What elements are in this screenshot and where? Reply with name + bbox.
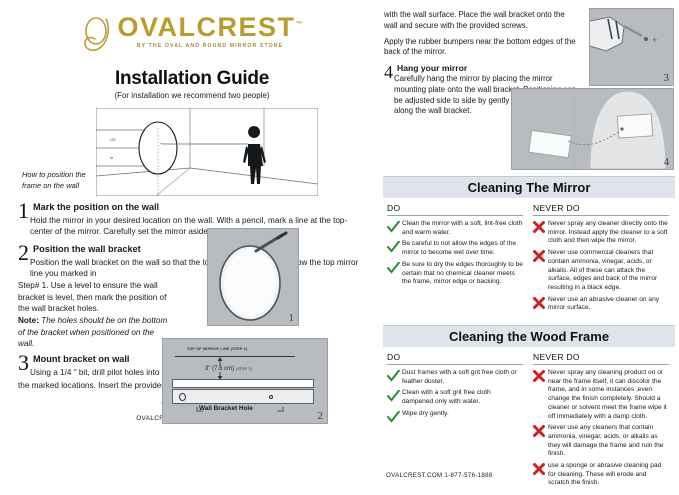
step-2-note-label: Note:: [18, 316, 39, 325]
step-3-number: 3: [18, 352, 29, 374]
cross-icon: [533, 296, 548, 313]
photo-panel-mirror-pencil: 1: [207, 228, 299, 326]
continuation-paragraph-2: Apply the rubber bumpers near the bottom…: [384, 37, 580, 59]
bracket-dimension-label: 3" (7.6 cm) (STEP 2): [205, 366, 252, 372]
brand-name: OVALCREST™: [117, 14, 302, 41]
room-diagram-caption: How to position the frame on the wall: [18, 108, 96, 196]
drill-illustration: +: [590, 9, 673, 85]
bracket-hole-right: [269, 395, 273, 399]
tip-item: Never use commercial cleaners that conta…: [533, 249, 669, 293]
trademark-symbol: ™: [296, 21, 303, 28]
tip-item: Be sure to dry the edges thoroughly to b…: [387, 261, 523, 287]
svg-text:US: US: [110, 137, 116, 142]
brand-tagline: BY THE OVAL AND ROUND MIRROR STORE: [117, 43, 302, 49]
cleaning-frame-section: Cleaning the Wood Frame DO Dust frames w…: [383, 325, 675, 495]
footer-right: OVALCREST.COM 1-877-576-1888: [386, 472, 493, 479]
bracket-hole-left: [179, 393, 186, 401]
tip-item: Dust frames with a soft grit free cloth …: [387, 369, 523, 386]
step-2-note-text: The holes should be on the bottom of the…: [18, 316, 167, 348]
step-1-number: 1: [18, 200, 29, 222]
tip-text: Never spray any cleaner directly onto th…: [548, 220, 669, 246]
tip-text: use a sponge or abrasive cleaning pad fo…: [548, 462, 669, 488]
tip-item: Clean with a soft grit free cloth dampen…: [387, 389, 523, 406]
check-icon: [387, 389, 402, 406]
cleaning-mirror-never-column: NEVER DO Never spray any cleaner directl…: [529, 199, 675, 320]
tip-text: Never use an abrasive cleaner on any mir…: [548, 296, 669, 313]
cross-icon: [533, 369, 548, 421]
cross-icon: [533, 249, 548, 293]
cleaning-mirror-do-column: DO Clean the mirror with a soft, lint-fr…: [383, 199, 529, 320]
tip-item: Wipe dry gently.: [387, 410, 523, 423]
panel-number-4: 4: [664, 156, 670, 168]
do-label-frame: DO: [387, 352, 523, 365]
installation-guide-page: OVALCREST™ BY THE OVAL AND ROUND MIRROR …: [0, 0, 679, 489]
cleaning-frame-never-column: NEVER DO Never spray any cleaning produc…: [529, 348, 675, 495]
tip-item: Never use an abrasive cleaner on any mir…: [533, 296, 669, 313]
tip-text: Never spray any cleaning product on or n…: [548, 369, 669, 421]
cleaning-mirror-section: Cleaning The Mirror DO Clean the mirror …: [383, 176, 675, 320]
cross-icon: [533, 220, 548, 246]
page-title: Installation Guide: [18, 68, 366, 90]
never-do-label-mirror: NEVER DO: [533, 203, 669, 216]
tip-text: Clean with a soft grit free cloth dampen…: [402, 389, 523, 406]
oval-swirl-icon: [81, 14, 115, 54]
tip-text: Be sure to dry the edges thoroughly to b…: [402, 261, 523, 287]
step-4-number: 4: [384, 63, 393, 81]
tip-text: Be careful to not allow the edges of the…: [402, 240, 523, 257]
svg-text:in: in: [110, 155, 113, 160]
cleaning-mirror-title: Cleaning The Mirror: [383, 176, 675, 198]
tip-item: use a sponge or abrasive cleaning pad fo…: [533, 462, 669, 488]
step-1-body: Hold the mirror in your desired location…: [18, 215, 366, 238]
check-icon: [387, 369, 402, 386]
step-4-heading: Hang your mirror: [384, 63, 584, 73]
tip-text: Wipe dry gently.: [402, 410, 449, 423]
step-2-number: 2: [18, 242, 29, 264]
photo-panel-hang-plate: 4: [511, 88, 674, 170]
tip-item: Never spray any cleaner directly onto th…: [533, 220, 669, 246]
mirror-pencil-illustration: [208, 229, 298, 325]
cross-icon: [533, 424, 548, 459]
cleaning-mirror-columns: DO Clean the mirror with a soft, lint-fr…: [383, 198, 675, 320]
photo-panel-bracket-diagram: TOP OF MIRROR LINE (STEP 1) 3" (7.6 cm) …: [162, 338, 328, 424]
tip-item: Be careful to not allow the edges of the…: [387, 240, 523, 257]
bracket-main-bar: [172, 389, 314, 404]
do-label-mirror: DO: [387, 203, 523, 216]
check-icon: [387, 220, 402, 237]
cross-icon: [533, 462, 548, 488]
check-icon: [387, 240, 402, 257]
page-subtitle: (For installation we recommend two peopl…: [18, 91, 366, 100]
brand-logo: OVALCREST™ BY THE OVAL AND ROUND MIRROR …: [18, 8, 366, 54]
step-2-heading: Position the wall bracket: [18, 244, 366, 255]
step-2: 2 Position the wall bracket Position the…: [18, 244, 366, 350]
panel-number-3: 3: [664, 72, 670, 84]
step-1-heading: Mark the position on the wall: [18, 202, 366, 213]
tip-text: Never use commercial cleaners that conta…: [548, 249, 669, 293]
panel-number-2: 2: [318, 410, 324, 422]
bracket-upper-bar: [172, 379, 314, 388]
wall-bracket-hole-label: Wall Bracket Hole: [199, 405, 253, 412]
svg-text:+: +: [652, 35, 657, 45]
never-do-label-frame: NEVER DO: [533, 352, 669, 365]
tip-item: Never use any cleaners that contain ammo…: [533, 424, 669, 459]
step-1: 1 Mark the position on the wall Hold the…: [18, 202, 366, 238]
check-icon: [387, 410, 402, 423]
step-2-body-a: Position the wall bracket on the wall so…: [18, 257, 366, 280]
cleaning-frame-title: Cleaning the Wood Frame: [383, 325, 675, 347]
tip-text: Clean the mirror with a soft, lint-free …: [402, 220, 523, 237]
room-diagram-row: How to position the frame on the wall: [18, 108, 366, 196]
panel-number-1: 1: [289, 312, 295, 324]
tip-item: Never spray any cleaning product on or n…: [533, 369, 669, 421]
tip-item: Clean the mirror with a soft, lint-free …: [387, 220, 523, 237]
photo-panel-drill: + 3: [589, 8, 674, 86]
step-2-note: Note: The holes should be on the bottom …: [18, 315, 170, 349]
continuation-paragraph-1: with the wall surface. Place the wall br…: [384, 10, 580, 32]
mirror-back-plate-illustration: [512, 89, 673, 169]
check-icon: [387, 261, 402, 287]
room-perspective-illustration: US in +: [96, 108, 318, 196]
tip-text: Dust frames with a soft grit free cloth …: [402, 369, 523, 386]
continuation-text: with the wall surface. Place the wall br…: [384, 10, 580, 58]
tip-text: Never use any cleaners that contain ammo…: [548, 424, 669, 459]
room-diagram: US in +: [96, 108, 318, 196]
step-2-body-b: Step# 1. Use a level to ensure the wall …: [18, 280, 170, 314]
